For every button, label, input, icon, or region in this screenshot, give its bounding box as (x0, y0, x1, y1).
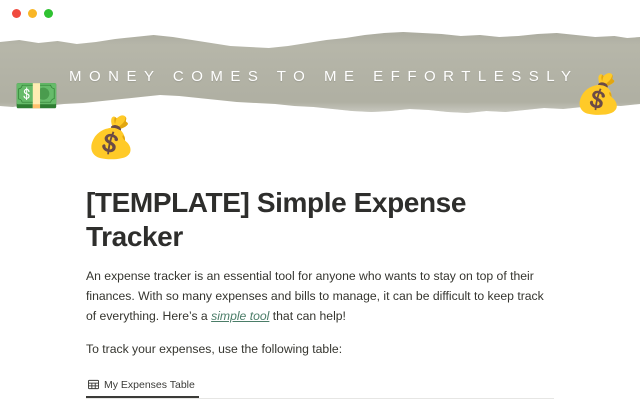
page-cover-banner[interactable]: 💵 💰 MONEY COMES TO ME EFFORTLESSLY (0, 26, 640, 126)
tab-my-expenses-table[interactable]: My Expenses Table (86, 379, 199, 398)
intro-paragraph-text-b: that can help! (269, 309, 346, 323)
cash-stack-icon: 💵 (14, 78, 59, 114)
tab-label: My Expenses Table (104, 379, 195, 391)
instruction-paragraph[interactable]: To track your expenses, use the followin… (86, 340, 554, 360)
table-icon (88, 379, 99, 390)
simple-tool-link[interactable]: simple tool (211, 309, 269, 323)
app-window: 💵 💰 MONEY COMES TO ME EFFORTLESSLY 💰 [TE… (0, 0, 640, 400)
page-title[interactable]: [TEMPLATE] Simple Expense Tracker (86, 186, 554, 253)
torn-edge-top-shadow (0, 26, 640, 52)
maximize-window-button[interactable] (44, 9, 53, 18)
window-titlebar (0, 0, 640, 26)
minimize-window-button[interactable] (28, 9, 37, 18)
page-icon-money-bag[interactable]: 💰 (86, 118, 136, 158)
page-content: [TEMPLATE] Simple Expense Tracker An exp… (0, 126, 640, 400)
money-bag-right-icon: 💰 (575, 76, 622, 114)
intro-paragraph[interactable]: An expense tracker is an essential tool … (86, 267, 554, 326)
database-tab-strip: My Expenses Table (86, 376, 554, 399)
close-window-button[interactable] (12, 9, 21, 18)
banner-headline: MONEY COMES TO ME EFFORTLESSLY (0, 68, 640, 85)
